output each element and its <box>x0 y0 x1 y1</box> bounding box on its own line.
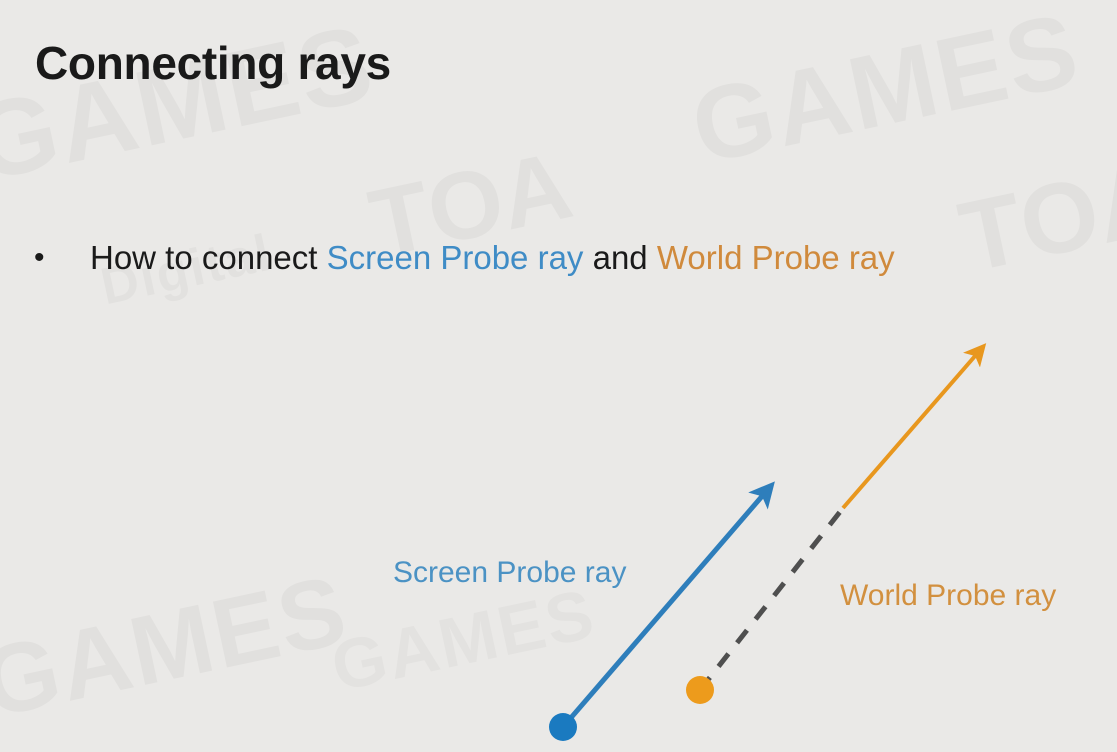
screen-probe-ray-label: Screen Probe ray <box>393 552 633 593</box>
presentation-slide: Connecting rays • How to connect Screen … <box>0 0 1117 752</box>
connecting-dashed-line <box>700 508 843 690</box>
world-probe-ray-label: World Probe ray <box>840 575 1056 616</box>
world-probe-ray-arrow <box>843 348 982 508</box>
ray-connection-diagram <box>0 0 1117 752</box>
world-probe-origin-dot <box>686 676 714 704</box>
screen-probe-ray-arrow <box>563 487 770 727</box>
screen-probe-origin-dot <box>549 713 577 741</box>
